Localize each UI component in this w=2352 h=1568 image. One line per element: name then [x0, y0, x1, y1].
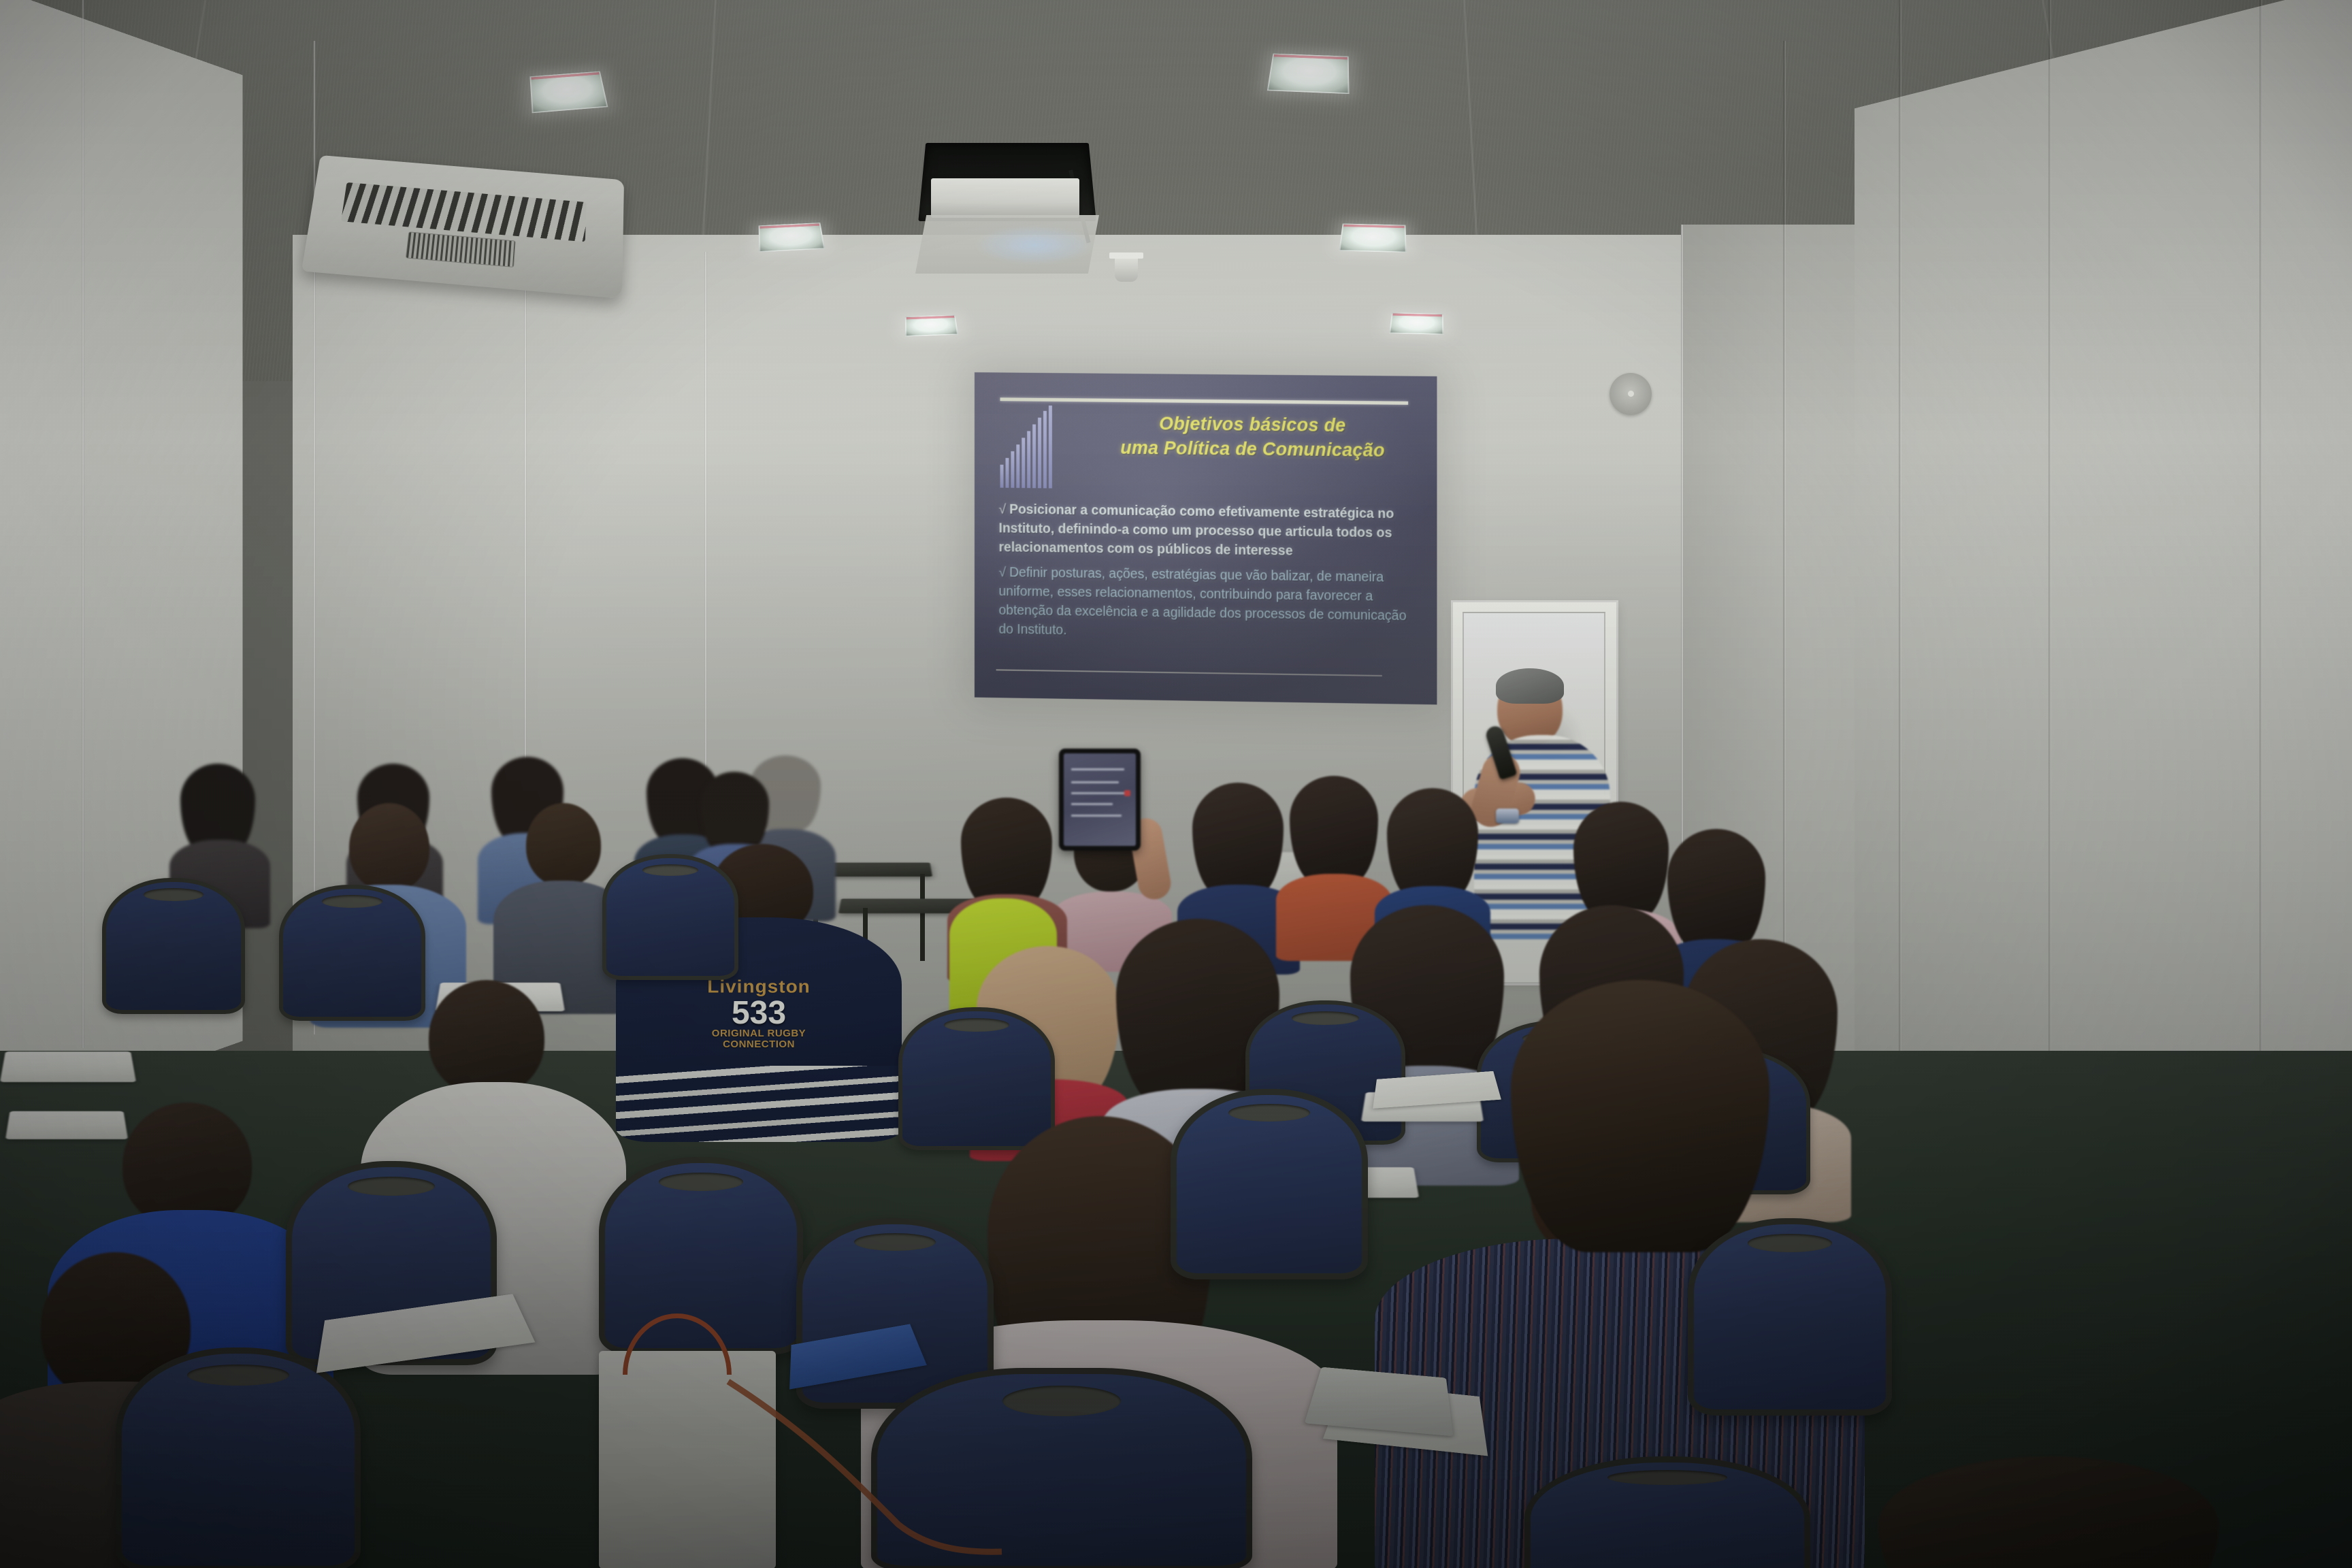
chair[interactable]: [602, 854, 738, 980]
slide-title-line-1: Objetivos básicos de: [1083, 411, 1424, 439]
chair-handle: [1002, 1386, 1120, 1416]
chair-handle: [659, 1173, 743, 1191]
chair-handle: [1607, 1470, 1728, 1485]
shirt-sub-line-1: ORIGINAL RUGBY: [707, 1028, 811, 1039]
check-mark-icon: √: [999, 565, 1007, 580]
slide-bars-motif: [1000, 405, 1062, 488]
air-conditioner-vent: [406, 231, 515, 267]
chair[interactable]: [1524, 1456, 1810, 1568]
hair: [1511, 980, 1769, 1252]
hair: [1290, 776, 1378, 883]
shirt-number: 533: [707, 998, 811, 1029]
presentation-slide: Objetivos básicos de uma Política de Com…: [975, 372, 1437, 704]
head: [429, 980, 544, 1096]
slide-body: √Posicionar a comunicação como efetivame…: [999, 500, 1413, 651]
head: [526, 803, 601, 886]
air-conditioner-grille: [341, 182, 587, 242]
hair: [700, 772, 769, 852]
wall-panel-seam: [82, 0, 84, 1048]
wall-speaker-icon: [1610, 373, 1652, 415]
chair-handle: [642, 864, 699, 876]
wristwatch-icon: [1496, 808, 1519, 823]
chair-handle: [348, 1177, 435, 1196]
slide-bullet-text: Definir posturas, ações, estratégias que…: [999, 566, 1407, 638]
ceiling-light: [1339, 223, 1406, 252]
projection-screen: Objetivos básicos de uma Política de Com…: [975, 372, 1437, 704]
chair-handle: [1292, 1011, 1358, 1025]
slide-bullet: √Definir posturas, ações, estratégias qu…: [999, 563, 1413, 645]
chair[interactable]: [1171, 1089, 1368, 1279]
head: [349, 803, 429, 892]
shirt-sub-line-2: CONNECTION: [707, 1039, 811, 1050]
chair-handle: [144, 888, 203, 901]
presenter-hair: [1496, 668, 1564, 704]
hair: [1387, 788, 1478, 900]
hair: [1192, 783, 1284, 896]
slide-top-rule: [1000, 397, 1409, 405]
shirt-stripes: [616, 1066, 902, 1142]
tablet-device[interactable]: [1059, 749, 1141, 851]
chair-handle: [854, 1233, 936, 1251]
conference-room-photo: Objetivos básicos de uma Política de Com…: [0, 0, 2352, 1568]
chair[interactable]: [116, 1347, 361, 1568]
projector-body: [931, 178, 1079, 218]
ceiling-light: [1267, 54, 1350, 95]
ceiling-light: [1389, 312, 1443, 335]
ceiling-light: [759, 223, 826, 252]
chair-handle: [944, 1018, 1009, 1032]
slide-title-line-2: uma Política de Comunicação: [1083, 436, 1424, 463]
desk-leg: [920, 874, 925, 961]
projector-lens-glow: [973, 225, 1096, 265]
tablet-record-indicator: [1124, 790, 1130, 796]
slide-bottom-rule: [996, 669, 1382, 676]
ceiling-light: [905, 314, 958, 336]
chair-handle: [1748, 1234, 1832, 1252]
smoke-detector-icon: [1115, 257, 1138, 282]
chair-handle: [187, 1365, 289, 1386]
tablet-arm-desk: [0, 1051, 136, 1082]
ceiling-light: [529, 71, 608, 114]
audience-member-foreground: [1878, 1456, 2219, 1568]
check-mark-icon: √: [999, 502, 1007, 517]
chair[interactable]: [102, 878, 245, 1014]
chair[interactable]: [871, 1368, 1252, 1568]
slide-title: Objetivos básicos de uma Política de Com…: [1083, 411, 1424, 463]
tote-bag[interactable]: [599, 1351, 776, 1568]
slide-bullet: √Posicionar a comunicação como efetivame…: [999, 500, 1413, 563]
shirt-graphic: Livingston 533 ORIGINAL RUGBY CONNECTION: [707, 976, 811, 1050]
hair: [1878, 1456, 2219, 1568]
chair-handle: [1228, 1104, 1310, 1122]
tablet-screen[interactable]: [1064, 753, 1136, 846]
chair-handle: [322, 895, 382, 908]
chair[interactable]: [1688, 1218, 1892, 1416]
slide-bullet-text: Posicionar a comunicação como efetivamen…: [999, 502, 1394, 559]
